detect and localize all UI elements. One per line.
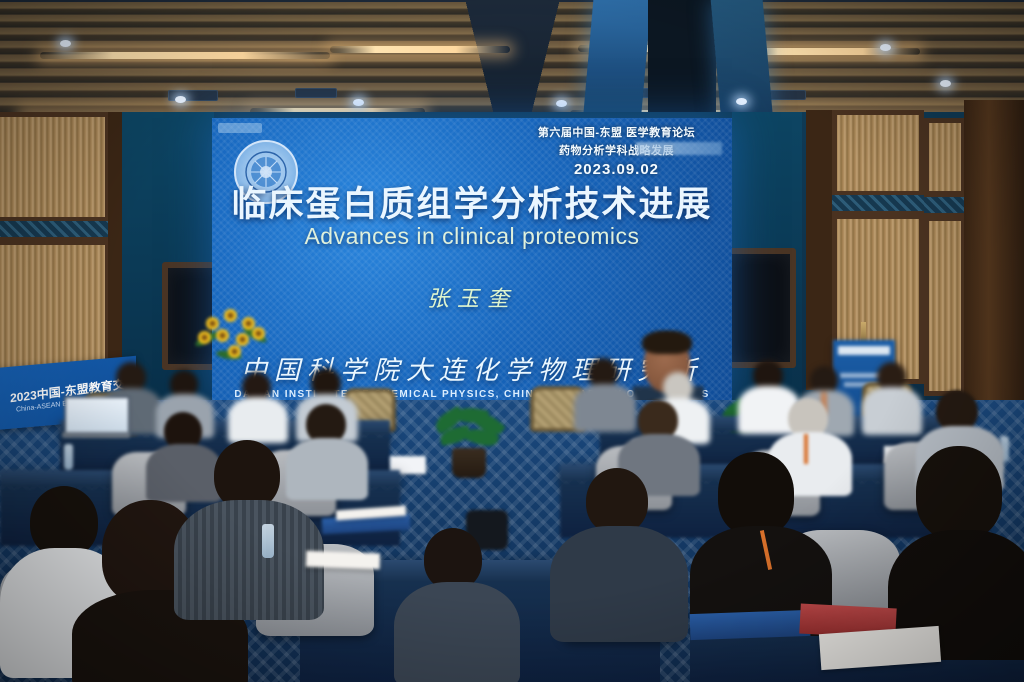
laptop-screen [64,396,130,436]
wall-lattice-right-corner [924,194,966,216]
flower-arrangement [190,305,282,365]
slide-title-en: Advances in clinical proteomics [212,223,732,250]
sunflower [228,345,241,358]
laptop[interactable] [62,396,130,440]
ceiling-downlight [60,40,71,47]
wall-post-left [108,112,122,382]
wall-panel-right-corner-upper [924,118,966,196]
ceiling-downlight [353,99,364,106]
person-torso [146,444,222,502]
person-torso [862,387,922,435]
ceiling-downlight [175,96,186,103]
slide-corner-logo [218,123,262,133]
speaker-video-hair [642,330,692,354]
slide-title-cn: 临床蛋白质组学分析技术进展 [212,176,732,227]
person-torso [394,582,520,682]
water-bottle[interactable] [262,524,274,558]
wall-panel-left-upper [0,112,110,222]
wall-lattice-left [0,218,110,240]
banner-right-logo [838,346,890,355]
sunflower [206,317,219,330]
side-door-right[interactable] [964,100,1024,430]
sunflower [252,327,265,340]
slide-header-obscured-text [636,142,722,155]
sunflower [224,309,237,322]
ceiling-downlight [880,44,891,51]
wall-panel-right-corner-lower [924,216,966,396]
ceiling-downlight [556,100,567,107]
ceiling-downlight [940,80,951,87]
sunflower [216,329,229,342]
lanyard [804,434,808,464]
wall-monitor-right [722,248,796,368]
person-head [718,452,794,536]
person-head [586,468,648,534]
ceiling-light-strip [330,46,510,53]
wall-post-right [806,110,832,390]
plant-pot [452,448,486,478]
sunflower [198,331,211,344]
person-torso [286,438,368,500]
person-torso [174,500,324,620]
projection-screen: 第六届中国-东盟 医学教育论坛 药物分析学科战略发展 2023.09.02 临床… [212,118,732,406]
slide-speaker-name: 张玉奎 [212,281,732,313]
conference-booklet[interactable] [690,610,811,640]
slide-header-line1: 第六届中国-东盟 医学教育论坛 [509,124,724,140]
ceiling-wood-panel-left [0,2,496,118]
ceiling [0,0,1024,118]
water-bottle[interactable] [64,444,73,470]
wall-lattice-right [832,192,924,214]
potted-plant-center [430,408,508,478]
conference-photo: 第六届中国-东盟 医学教育论坛 药物分析学科战略发展 2023.09.02 临床… [0,0,1024,682]
person-head [916,446,1002,540]
ceiling-beam-left [583,0,652,118]
ceiling-light-strip [40,52,330,59]
person-torso [550,526,688,642]
person-torso [574,384,636,432]
person-head [424,528,482,590]
person-torso [228,397,288,443]
ceiling-downlight [736,98,747,105]
ceiling-beam-gap [648,0,716,118]
sunflower [236,333,249,346]
paper-sheet[interactable] [306,551,381,570]
laptop-base [62,432,130,438]
wall-panel-right-upper [832,110,924,196]
ceiling-vent [295,88,337,98]
